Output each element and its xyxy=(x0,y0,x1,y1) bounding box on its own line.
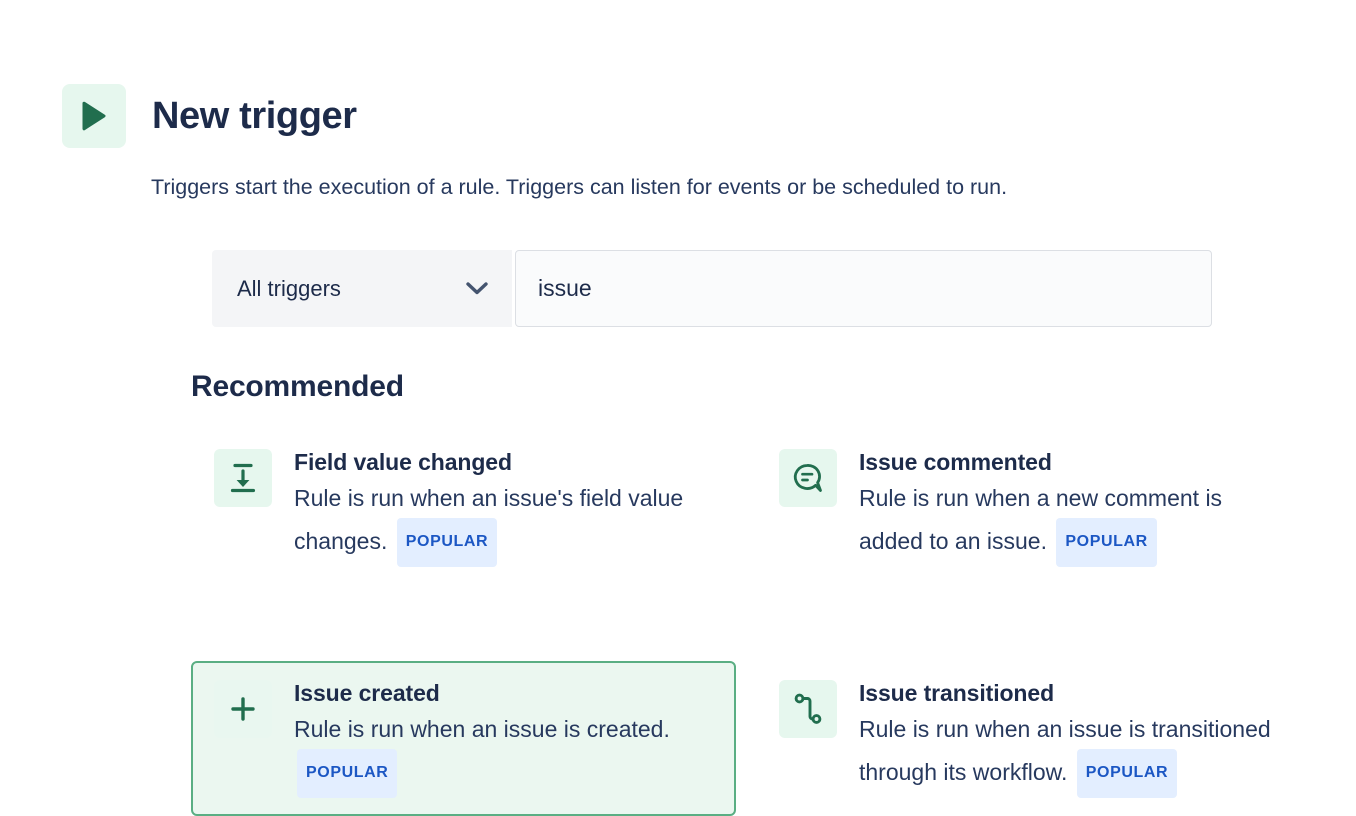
branch-icon xyxy=(779,680,837,738)
trigger-type-dropdown[interactable]: All triggers xyxy=(212,250,512,327)
card-title: Issue created xyxy=(294,677,714,709)
page-title: New trigger xyxy=(152,97,357,135)
card-title: Issue transitioned xyxy=(859,677,1279,709)
field-value-changed-icon xyxy=(214,449,272,507)
trigger-card-field-value-changed[interactable]: Field value changed Rule is run when an … xyxy=(191,430,736,585)
page-description: Triggers start the execution of a rule. … xyxy=(151,172,1007,202)
card-description: Rule is run when an issue is transitione… xyxy=(859,709,1279,798)
card-description: Rule is run when a new comment is added … xyxy=(859,478,1279,567)
card-body: Issue transitioned Rule is run when an i… xyxy=(859,676,1279,798)
card-description-text: Rule is run when an issue is transitione… xyxy=(859,716,1271,785)
card-body: Issue commented Rule is run when a new c… xyxy=(859,445,1279,567)
status-badge: POPULAR xyxy=(1056,518,1156,567)
dropdown-selected-label: All triggers xyxy=(237,276,341,302)
card-body: Field value changed Rule is run when an … xyxy=(294,445,714,567)
card-description: Rule is run when an issue is created. PO… xyxy=(294,709,714,798)
chevron-down-icon xyxy=(466,282,488,295)
new-trigger-page: New trigger Triggers start the execution… xyxy=(0,0,1356,802)
search-input[interactable] xyxy=(515,250,1212,327)
comment-icon xyxy=(779,449,837,507)
card-title: Field value changed xyxy=(294,446,714,478)
card-description: Rule is run when an issue's field value … xyxy=(294,478,714,567)
status-badge: POPULAR xyxy=(1077,749,1177,798)
card-description-text: Rule is run when a new comment is added … xyxy=(859,485,1222,554)
page-header: New trigger xyxy=(62,84,357,148)
card-description-text: Rule is run when an issue is created. xyxy=(294,716,670,742)
play-icon xyxy=(62,84,126,148)
trigger-card-grid: Field value changed Rule is run when an … xyxy=(191,430,1301,816)
plus-icon xyxy=(214,680,272,738)
card-body: Issue created Rule is run when an issue … xyxy=(294,676,714,798)
trigger-card-issue-created[interactable]: Issue created Rule is run when an issue … xyxy=(191,661,736,816)
filter-row: All triggers xyxy=(212,250,1212,327)
section-title-recommended: Recommended xyxy=(191,369,404,405)
trigger-card-issue-commented[interactable]: Issue commented Rule is run when a new c… xyxy=(756,430,1301,585)
trigger-card-issue-transitioned[interactable]: Issue transitioned Rule is run when an i… xyxy=(756,661,1301,816)
status-badge: POPULAR xyxy=(397,518,497,567)
card-title: Issue commented xyxy=(859,446,1279,478)
status-badge: POPULAR xyxy=(297,749,397,798)
